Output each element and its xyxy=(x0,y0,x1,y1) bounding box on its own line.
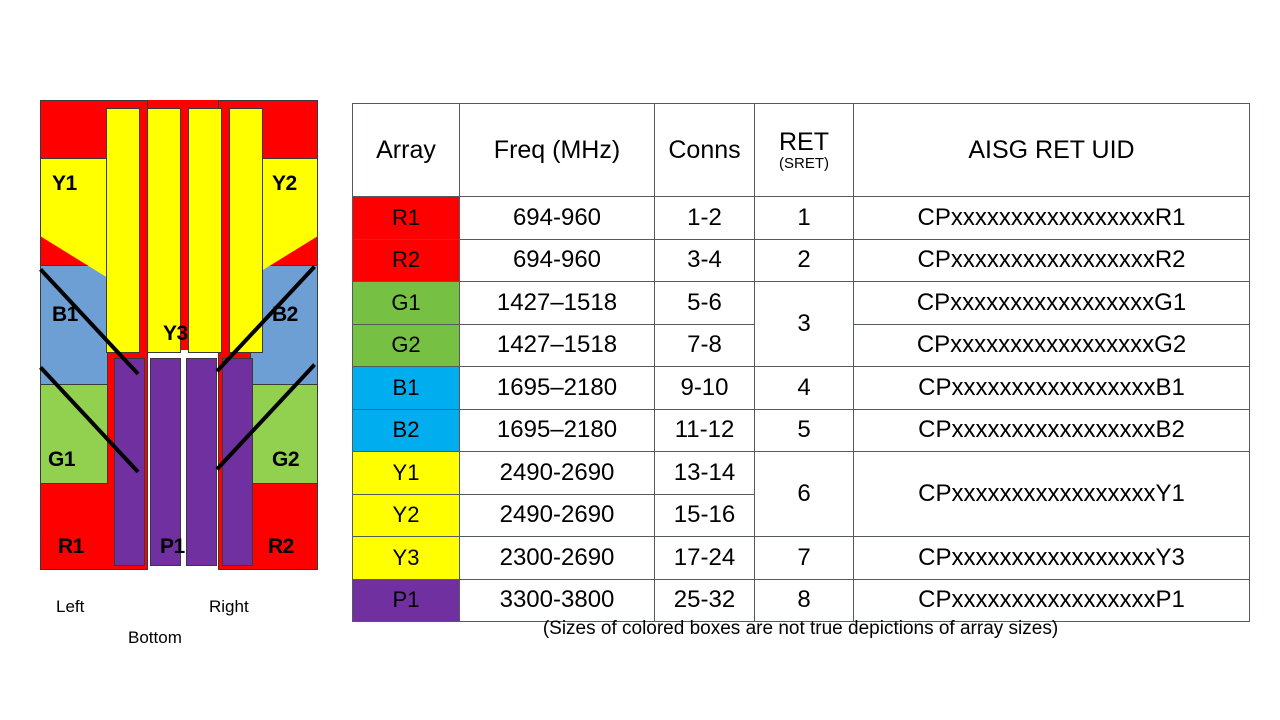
cell-uid: CPxxxxxxxxxxxxxxxxxY3 xyxy=(854,537,1250,580)
array-block-y3-strip-1 xyxy=(106,108,140,353)
diagram-label-y2: Y2 xyxy=(272,172,297,196)
cell-freq: 2490-2690 xyxy=(460,494,655,537)
cell-uid: CPxxxxxxxxxxxxxxxxxB1 xyxy=(854,367,1250,410)
diagram-label-b2: B2 xyxy=(272,303,298,327)
antenna-array-diagram: Y1 Y2 B1 B2 G1 G2 R1 R2 Y3 P1 xyxy=(40,100,318,570)
cell-freq: 694-960 xyxy=(460,197,655,240)
table-caption: (Sizes of colored boxes are not true dep… xyxy=(352,618,1249,640)
cell-ret: 3 xyxy=(755,282,854,367)
array-block-y3-strip-2 xyxy=(147,108,181,353)
cell-uid: CPxxxxxxxxxxxxxxxxxR1 xyxy=(854,197,1250,240)
cell-conns: 17-24 xyxy=(655,537,755,580)
cell-array-r1: R1 xyxy=(353,197,460,240)
cell-uid: CPxxxxxxxxxxxxxxxxxB2 xyxy=(854,409,1250,452)
cell-uid: CPxxxxxxxxxxxxxxxxxG2 xyxy=(854,324,1250,367)
cell-ret: 2 xyxy=(755,239,854,282)
cell-conns: 5-6 xyxy=(655,282,755,325)
cell-array-p1: P1 xyxy=(353,579,460,622)
cell-freq: 1695–2180 xyxy=(460,367,655,410)
table-row: Y12490-269013-146CPxxxxxxxxxxxxxxxxxY1 xyxy=(353,452,1250,495)
cell-array-b2: B2 xyxy=(353,409,460,452)
cell-array-b1: B1 xyxy=(353,367,460,410)
cell-ret: 5 xyxy=(755,409,854,452)
column-header-conns: Conns xyxy=(655,104,755,197)
cell-conns: 13-14 xyxy=(655,452,755,495)
array-block-p1-strip-4 xyxy=(222,358,253,566)
cell-conns: 9-10 xyxy=(655,367,755,410)
cell-ret: 6 xyxy=(755,452,854,537)
column-header-uid: AISG RET UID xyxy=(854,104,1250,197)
cell-freq: 1427–1518 xyxy=(460,282,655,325)
cell-freq: 2300-2690 xyxy=(460,537,655,580)
cell-array-y2: Y2 xyxy=(353,494,460,537)
column-header-ret-main: RET xyxy=(755,130,853,155)
table-row: B21695–218011-125CPxxxxxxxxxxxxxxxxxB2 xyxy=(353,409,1250,452)
cell-freq: 694-960 xyxy=(460,239,655,282)
table-row: R1694-9601-21CPxxxxxxxxxxxxxxxxxR1 xyxy=(353,197,1250,240)
cell-conns: 25-32 xyxy=(655,579,755,622)
column-header-ret-sub: (SRET) xyxy=(755,156,853,171)
table-header-row: Array Freq (MHz) Conns RET (SRET) AISG R… xyxy=(353,104,1250,197)
cell-array-g2: G2 xyxy=(353,324,460,367)
diagram-label-g1: G1 xyxy=(48,448,75,472)
table-row: G11427–15185-63CPxxxxxxxxxxxxxxxxxG1 xyxy=(353,282,1250,325)
diagram-label-g2: G2 xyxy=(272,448,299,472)
cell-conns: 3-4 xyxy=(655,239,755,282)
cell-uid: CPxxxxxxxxxxxxxxxxxG1 xyxy=(854,282,1250,325)
cell-freq: 2490-2690 xyxy=(460,452,655,495)
diagram-label-p1: P1 xyxy=(160,535,185,559)
cell-uid: CPxxxxxxxxxxxxxxxxxY1 xyxy=(854,452,1250,537)
array-block-y3-strip-4 xyxy=(229,108,263,353)
column-header-ret: RET (SRET) xyxy=(755,104,854,197)
cell-array-y3: Y3 xyxy=(353,537,460,580)
cell-array-g1: G1 xyxy=(353,282,460,325)
cell-array-y1: Y1 xyxy=(353,452,460,495)
cell-ret: 8 xyxy=(755,579,854,622)
cell-uid: CPxxxxxxxxxxxxxxxxxR2 xyxy=(854,239,1250,282)
cell-conns: 1-2 xyxy=(655,197,755,240)
column-header-array: Array xyxy=(353,104,460,197)
cell-freq: 1695–2180 xyxy=(460,409,655,452)
diagram-label-r2: R2 xyxy=(268,535,294,559)
cell-conns: 11-12 xyxy=(655,409,755,452)
cell-array-r2: R2 xyxy=(353,239,460,282)
array-block-y3-strip-3 xyxy=(188,108,222,353)
array-specification-table: Array Freq (MHz) Conns RET (SRET) AISG R… xyxy=(352,103,1250,622)
cell-conns: 7-8 xyxy=(655,324,755,367)
table-row: Y32300-269017-247CPxxxxxxxxxxxxxxxxxY3 xyxy=(353,537,1250,580)
column-header-freq: Freq (MHz) xyxy=(460,104,655,197)
table-row: R2694-9603-42CPxxxxxxxxxxxxxxxxxR2 xyxy=(353,239,1250,282)
orientation-label-right: Right xyxy=(209,597,249,617)
orientation-label-left: Left xyxy=(56,597,84,617)
diagram-label-y1: Y1 xyxy=(52,172,77,196)
array-table-container: Array Freq (MHz) Conns RET (SRET) AISG R… xyxy=(352,103,1249,622)
orientation-label-bottom: Bottom xyxy=(128,628,182,648)
cell-freq: 3300-3800 xyxy=(460,579,655,622)
diagram-label-y3: Y3 xyxy=(163,322,188,346)
cell-freq: 1427–1518 xyxy=(460,324,655,367)
cell-uid: CPxxxxxxxxxxxxxxxxxP1 xyxy=(854,579,1250,622)
cell-conns: 15-16 xyxy=(655,494,755,537)
diagram-label-r1: R1 xyxy=(58,535,84,559)
diagram-label-b1: B1 xyxy=(52,303,78,327)
cell-ret: 7 xyxy=(755,537,854,580)
array-block-p1-strip-3 xyxy=(186,358,217,566)
cell-ret: 1 xyxy=(755,197,854,240)
table-row: P13300-380025-328CPxxxxxxxxxxxxxxxxxP1 xyxy=(353,579,1250,622)
table-row: B11695–21809-104CPxxxxxxxxxxxxxxxxxB1 xyxy=(353,367,1250,410)
cell-ret: 4 xyxy=(755,367,854,410)
table-body: R1694-9601-21CPxxxxxxxxxxxxxxxxxR1R2694-… xyxy=(353,197,1250,622)
